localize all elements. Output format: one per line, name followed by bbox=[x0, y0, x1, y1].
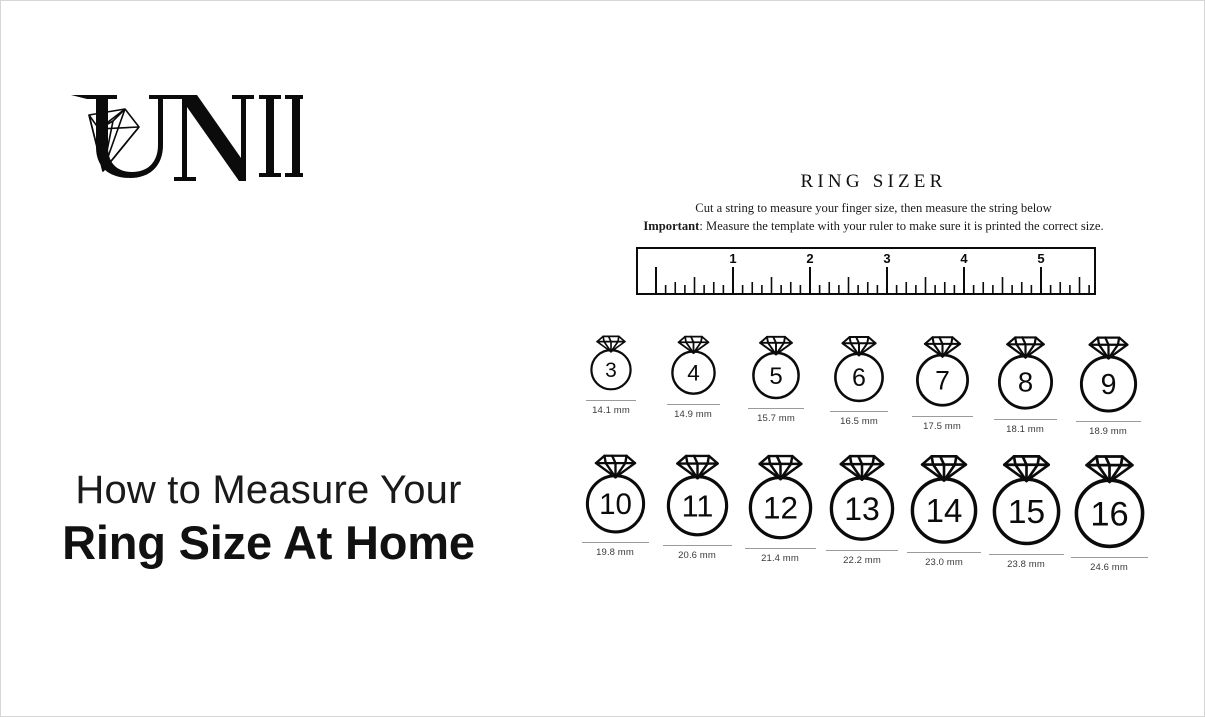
diamond-ring-icon: 5 bbox=[749, 331, 803, 404]
ring-diameter-label: 15.7 mm bbox=[734, 413, 818, 424]
ring-size-item[interactable]: 818.1 mm bbox=[983, 331, 1067, 435]
right-panel: RING SIZER Cut a string to measure your … bbox=[541, 1, 1205, 717]
ring-diameter-label: 14.9 mm bbox=[651, 409, 735, 420]
ring-size-number: 8 bbox=[1017, 367, 1032, 398]
diamond-ring-icon: 13 bbox=[827, 449, 897, 546]
measurement-divider bbox=[1071, 557, 1148, 558]
measurement-divider bbox=[667, 404, 720, 405]
ring-size-row: 314.1 mm414.9 mm515.7 mm616.5 mm717.5 mm… bbox=[541, 331, 1205, 441]
ring-diameter-label: 24.6 mm bbox=[1067, 562, 1151, 573]
measurement-divider bbox=[907, 552, 981, 553]
measurement-divider bbox=[663, 545, 732, 546]
measurement-divider bbox=[989, 554, 1064, 555]
ring-diameter-label: 21.4 mm bbox=[738, 553, 822, 564]
ruler-number: 2 bbox=[806, 251, 813, 266]
diamond-gem-icon bbox=[841, 456, 883, 479]
ring-sizer-page: How to Measure Your Ring Size At Home RI… bbox=[0, 0, 1205, 717]
ring-size-item[interactable]: 918.9 mm bbox=[1066, 331, 1150, 437]
ruler-svg: 12345 bbox=[636, 247, 1096, 295]
headline-line-1: How to Measure Your bbox=[1, 467, 536, 514]
measurement-divider bbox=[745, 548, 816, 549]
ring-diameter-label: 23.0 mm bbox=[902, 557, 986, 568]
ring-size-item[interactable]: 1019.8 mm bbox=[573, 449, 657, 558]
ring-size-number: 11 bbox=[681, 489, 713, 523]
ruler-numbers: 12345 bbox=[729, 251, 1044, 266]
ring-size-number: 9 bbox=[1100, 369, 1116, 401]
ring-size-number: 14 bbox=[926, 492, 963, 529]
ring-size-item[interactable]: 1221.4 mm bbox=[738, 449, 822, 564]
headline-block: How to Measure Your Ring Size At Home bbox=[1, 467, 536, 571]
ring-size-item[interactable]: 717.5 mm bbox=[900, 331, 984, 432]
ring-size-item[interactable]: 314.1 mm bbox=[569, 331, 653, 416]
ring-diameter-label: 22.2 mm bbox=[820, 555, 904, 566]
ruler-border bbox=[637, 248, 1095, 294]
measurement-divider bbox=[830, 411, 888, 412]
ring-size-item[interactable]: 1523.8 mm bbox=[984, 449, 1068, 570]
unii-wordmark-icon bbox=[63, 79, 303, 189]
diamond-ring-icon: 10 bbox=[583, 449, 648, 538]
ruler-number: 5 bbox=[1037, 251, 1044, 266]
instruction-line-1: Cut a string to measure your finger size… bbox=[541, 200, 1205, 218]
diamond-ring-icon: 6 bbox=[831, 331, 887, 407]
ring-diameter-label: 19.8 mm bbox=[573, 547, 657, 558]
diamond-gem-icon bbox=[1086, 457, 1132, 482]
printable-ruler: 12345 bbox=[636, 247, 1096, 295]
ring-size-number: 12 bbox=[762, 490, 797, 526]
ring-size-item[interactable]: 414.9 mm bbox=[651, 331, 735, 420]
ring-size-number: 3 bbox=[605, 359, 617, 382]
diamond-ring-icon: 11 bbox=[664, 449, 731, 541]
headline-line-2: Ring Size At Home bbox=[1, 516, 536, 571]
ruler-number: 4 bbox=[960, 251, 968, 266]
measurement-divider bbox=[826, 550, 898, 551]
ring-size-item[interactable]: 616.5 mm bbox=[817, 331, 901, 427]
ring-size-number: 7 bbox=[935, 365, 950, 395]
measurement-divider bbox=[1076, 421, 1141, 422]
diamond-ring-icon: 4 bbox=[668, 331, 719, 400]
ring-diameter-label: 17.5 mm bbox=[900, 421, 984, 432]
ring-size-item[interactable]: 1423.0 mm bbox=[902, 449, 986, 568]
instructions-block: Cut a string to measure your finger size… bbox=[541, 200, 1205, 236]
measurement-divider bbox=[912, 416, 973, 417]
ring-size-number: 13 bbox=[844, 491, 880, 527]
diamond-ring-icon: 16 bbox=[1072, 449, 1147, 553]
ruler-number: 1 bbox=[729, 251, 736, 266]
ring-size-number: 10 bbox=[599, 488, 632, 521]
diamond-ring-icon: 15 bbox=[990, 449, 1063, 550]
diamond-gem-icon bbox=[1089, 338, 1127, 359]
ring-size-item[interactable]: 515.7 mm bbox=[734, 331, 818, 424]
ring-diameter-label: 18.1 mm bbox=[983, 424, 1067, 435]
diamond-ring-icon: 14 bbox=[908, 449, 980, 548]
ring-size-row: 1019.8 mm1120.6 mm1221.4 mm1322.2 mm1423… bbox=[541, 449, 1205, 574]
ring-size-number: 6 bbox=[852, 364, 866, 392]
measurement-divider bbox=[994, 419, 1057, 420]
diamond-ring-icon: 9 bbox=[1077, 331, 1140, 417]
ring-diameter-label: 20.6 mm bbox=[655, 550, 739, 561]
page-title: RING SIZER bbox=[541, 171, 1205, 193]
diamond-ring-icon: 12 bbox=[746, 449, 815, 544]
instruction-important-label: Important bbox=[643, 219, 699, 233]
measurement-divider bbox=[582, 542, 649, 543]
instruction-important-text: : Measure the template with your ruler t… bbox=[699, 219, 1103, 233]
ring-size-item[interactable]: 1322.2 mm bbox=[820, 449, 904, 566]
diamond-gem-icon bbox=[922, 456, 966, 480]
diamond-ring-icon: 3 bbox=[587, 331, 635, 396]
brand-logo bbox=[63, 79, 303, 189]
ruler-ticks bbox=[656, 267, 1089, 293]
ring-size-item[interactable]: 1120.6 mm bbox=[655, 449, 739, 561]
ring-diameter-label: 14.1 mm bbox=[569, 405, 653, 416]
ring-size-number: 4 bbox=[687, 360, 700, 385]
instruction-line-2: Important: Measure the template with you… bbox=[541, 218, 1205, 236]
ruler-number: 3 bbox=[883, 251, 890, 266]
diamond-gem-icon bbox=[595, 456, 634, 478]
diamond-ring-icon: 7 bbox=[913, 331, 972, 412]
ring-diameter-label: 16.5 mm bbox=[817, 416, 901, 427]
diamond-gem-icon bbox=[759, 456, 801, 479]
measurement-divider bbox=[748, 408, 804, 409]
diamond-gem-icon bbox=[677, 456, 717, 478]
ring-size-number: 16 bbox=[1090, 495, 1128, 533]
diamond-ring-icon: 8 bbox=[995, 331, 1056, 415]
ring-size-number: 15 bbox=[1007, 494, 1044, 531]
ring-size-number: 5 bbox=[769, 363, 782, 390]
diamond-gem-icon bbox=[1004, 456, 1048, 481]
left-panel: How to Measure Your Ring Size At Home bbox=[1, 1, 541, 717]
measurement-divider bbox=[586, 400, 636, 401]
ring-diameter-label: 18.9 mm bbox=[1066, 426, 1150, 437]
ring-diameter-label: 23.8 mm bbox=[984, 559, 1068, 570]
ring-size-item[interactable]: 1624.6 mm bbox=[1067, 449, 1151, 573]
